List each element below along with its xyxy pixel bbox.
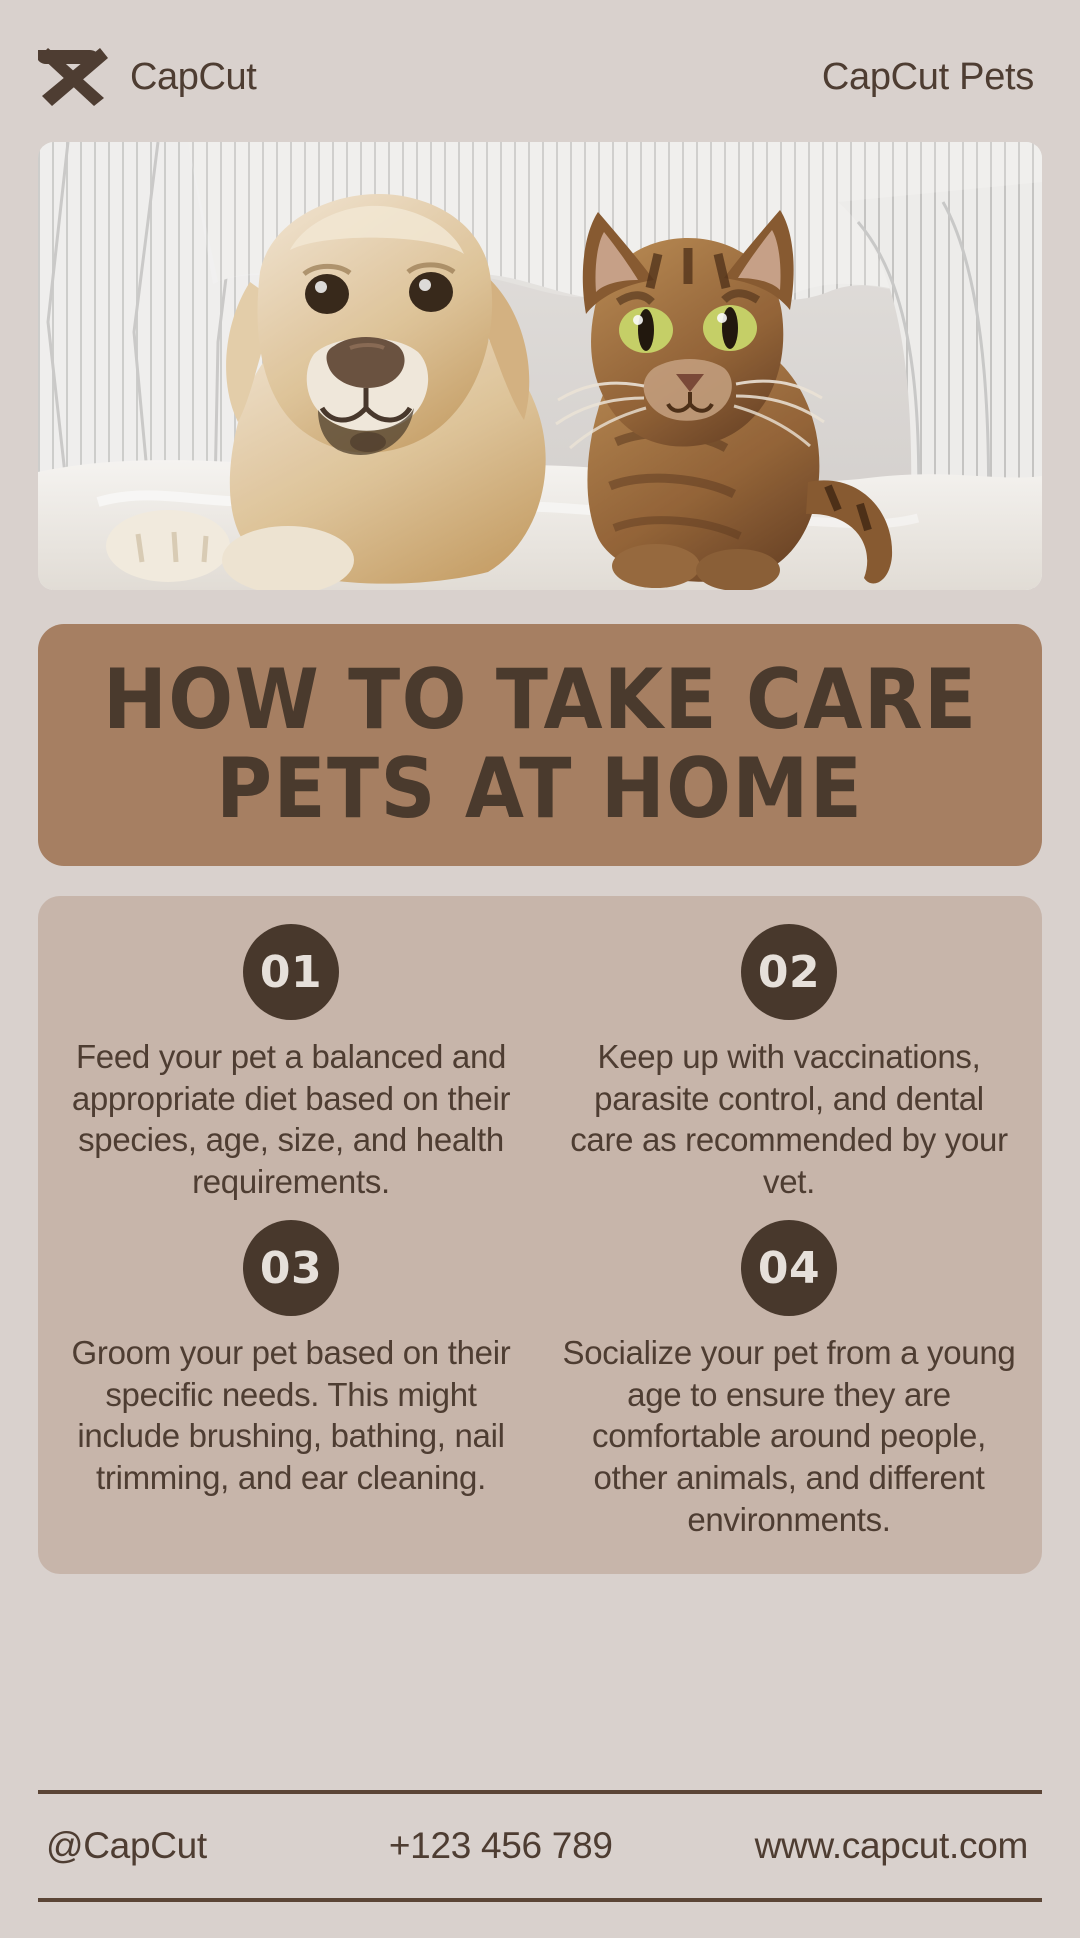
brand-lockup: CapCut: [38, 46, 256, 108]
capcut-bowtie-logo-icon: [38, 46, 110, 108]
tip-item-03: 03 Groom your pet based on their specifi…: [62, 1220, 520, 1540]
tip-number-badge: 03: [243, 1220, 339, 1316]
footer-website[interactable]: www.capcut.com: [755, 1825, 1028, 1867]
tips-card: 01 Feed your pet a balanced and appropri…: [38, 896, 1042, 1574]
infographic-page: CapCut CapCut Pets: [0, 18, 1080, 1938]
tip-item-02: 02 Keep up with vaccinations, parasite c…: [560, 924, 1018, 1202]
header: CapCut CapCut Pets: [38, 18, 1042, 136]
tip-item-04: 04 Socialize your pet from a young age t…: [560, 1220, 1018, 1540]
footer-divider-bottom: [38, 1898, 1042, 1902]
tip-text: Socialize your pet from a young age to e…: [560, 1332, 1018, 1540]
title-line-1: HOW TO TAKE CARE: [103, 656, 978, 745]
footer: @CapCut +123 456 789 www.capcut.com: [38, 1790, 1042, 1902]
tip-number-badge: 01: [243, 924, 339, 1020]
footer-social-handle[interactable]: @CapCut: [46, 1825, 207, 1867]
tips-grid: 01 Feed your pet a balanced and appropri…: [62, 924, 1018, 1540]
tip-text: Feed your pet a balanced and appropriate…: [62, 1036, 520, 1202]
tip-number-badge: 04: [741, 1220, 837, 1316]
header-right-label: CapCut Pets: [822, 56, 1034, 99]
tip-number-badge: 02: [741, 924, 837, 1020]
tip-text: Keep up with vaccinations, parasite cont…: [560, 1036, 1018, 1202]
tip-item-01: 01 Feed your pet a balanced and appropri…: [62, 924, 520, 1202]
brand-name: CapCut: [130, 56, 256, 99]
footer-contact-row: @CapCut +123 456 789 www.capcut.com: [38, 1794, 1042, 1898]
hero-photo: [38, 142, 1042, 590]
tip-text: Groom your pet based on their specific n…: [62, 1332, 520, 1498]
title-line-2: PETS AT HOME: [216, 745, 863, 834]
footer-phone[interactable]: +123 456 789: [389, 1825, 613, 1867]
title-banner: HOW TO TAKE CARE PETS AT HOME: [38, 624, 1042, 866]
